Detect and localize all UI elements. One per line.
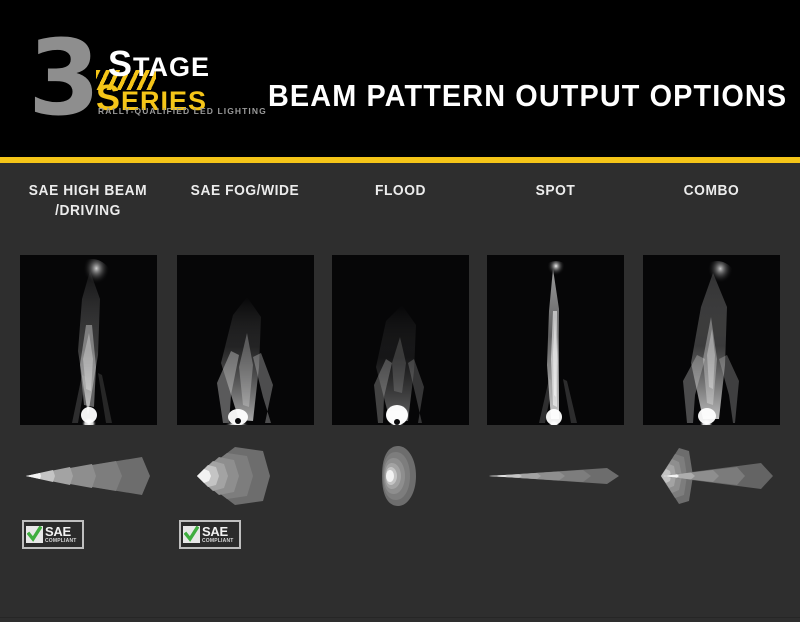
beam-diagram-spot [487, 445, 624, 507]
sae-compliant-badge: SAE COMPLIANT [179, 520, 241, 549]
sae-badge-text: SAE COMPLIANT [202, 525, 234, 544]
column-label: SAE HIGH BEAM /DRIVING [7, 181, 169, 221]
column-label: SAE FOG/WIDE [164, 181, 326, 201]
beam-diagram-sae-fog-wide [177, 445, 314, 507]
column-label-line1: SPOT [490, 181, 620, 201]
sae-compliant-badge: SAE COMPLIANT [22, 520, 84, 549]
sae-badge-mark: SAE [45, 525, 77, 538]
check-icon [26, 526, 43, 543]
column-label: FLOOD [335, 181, 465, 201]
sae-badge-sub: COMPLIANT [202, 539, 234, 544]
beam-photo-sae-high-beam-driving [20, 255, 157, 425]
sae-badge-sub: COMPLIANT [45, 539, 77, 544]
column-label-line2: /DRIVING [7, 201, 169, 221]
column-label-line1: SAE HIGH BEAM [7, 181, 169, 201]
column-label: SPOT [490, 181, 620, 201]
sae-badge-inner: SAE COMPLIANT [24, 522, 82, 547]
beam-photo-flood [332, 255, 469, 425]
column-label-line1: COMBO [646, 181, 776, 201]
column-label-line1: SAE FOG/WIDE [164, 181, 326, 201]
sae-badge-inner: SAE COMPLIANT [181, 522, 239, 547]
check-icon [183, 526, 200, 543]
stage-series-logo: 3 STAGE SERIES RALLY-QUALIFIED LED LIGHT… [28, 30, 243, 130]
beam-diagram-flood [332, 445, 469, 507]
sae-badge-text: SAE COMPLIANT [45, 525, 77, 544]
logo-tagline: RALLY-QUALIFIED LED LIGHTING [98, 106, 267, 116]
column-label-line1: FLOOD [335, 181, 465, 201]
beam-diagram-combo [643, 445, 780, 507]
column-label: COMBO [646, 181, 776, 201]
beam-photo-spot [487, 255, 624, 425]
beam-photo-combo [643, 255, 780, 425]
bottom-divider [0, 617, 800, 618]
beam-pattern-grid: SAE HIGH BEAM /DRIVING [0, 163, 800, 622]
page-title: BEAM PATTERN OUTPUT OPTIONS [268, 78, 787, 114]
header-banner: 3 STAGE SERIES RALLY-QUALIFIED LED LIGHT… [0, 0, 800, 157]
beam-diagram-sae-high-beam-driving [20, 445, 157, 507]
sae-badge-mark: SAE [202, 525, 234, 538]
beam-photo-sae-fog-wide [177, 255, 314, 425]
logo-numeral: 3 [28, 26, 94, 130]
